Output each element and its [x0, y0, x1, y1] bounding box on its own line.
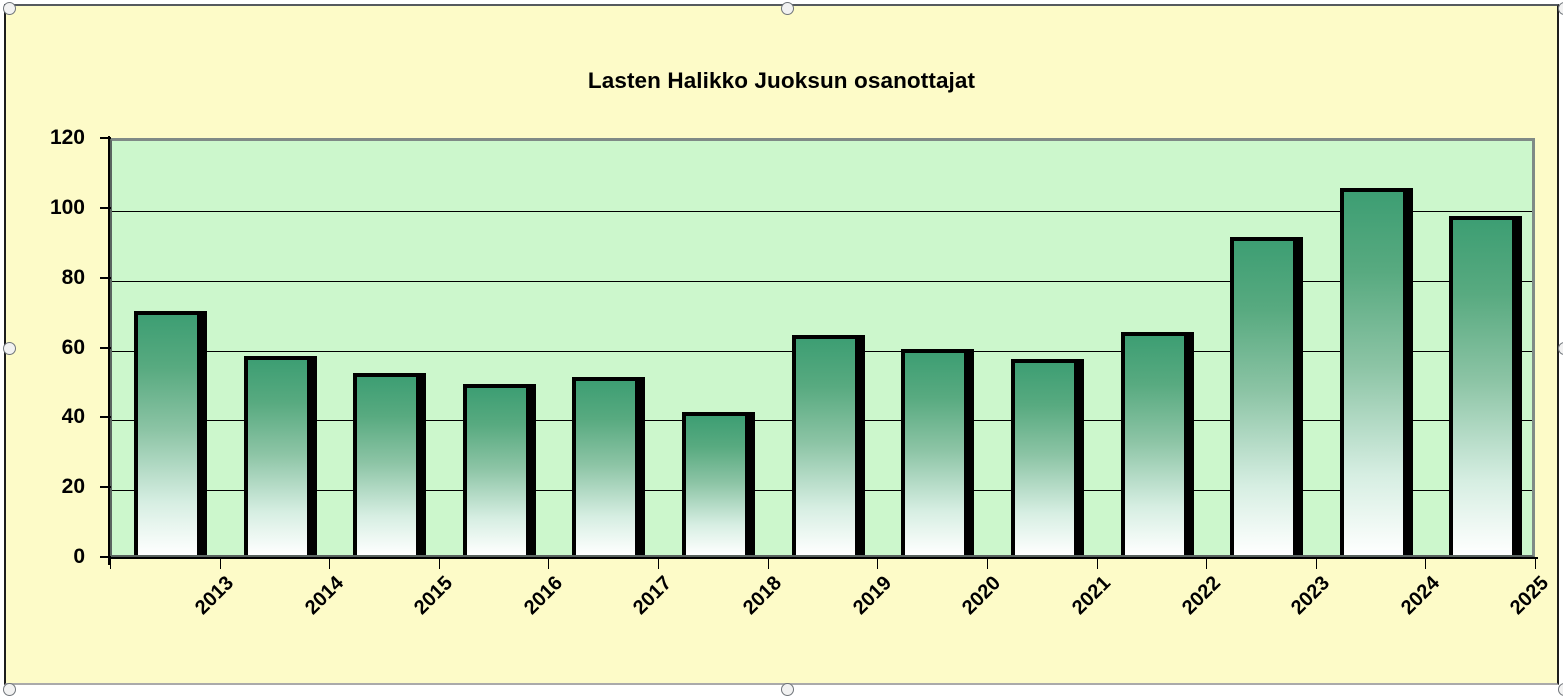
bar[interactable]: [572, 377, 639, 555]
bar[interactable]: [792, 335, 859, 555]
selection-handle-bottom-left[interactable]: [3, 683, 16, 696]
value-axis-tick: [100, 416, 111, 418]
chart-title[interactable]: Lasten Halikko Juoksun osanottajat: [6, 68, 1557, 94]
category-axis-tick: [768, 557, 769, 569]
category-axis-tick: [1535, 557, 1536, 569]
bar-slot: [331, 141, 441, 555]
category-axis-tick: [987, 557, 988, 569]
category-axis-tick-label: 2020: [958, 572, 1006, 620]
category-axis-tick-label: 2022: [1178, 572, 1226, 620]
bar-slot: [441, 141, 551, 555]
value-axis-tick: [100, 486, 111, 488]
category-axis-tick: [1206, 557, 1207, 569]
bar-slot: [112, 141, 222, 555]
bar-slot: [660, 141, 770, 555]
selection-handle-middle-right[interactable]: [1558, 342, 1563, 355]
bar-slot: [222, 141, 332, 555]
category-axis-tick: [439, 557, 440, 569]
category-axis-tick: [220, 557, 221, 569]
selection-handle-bottom-center[interactable]: [781, 683, 794, 696]
bar-slot: [1427, 141, 1537, 555]
bar[interactable]: [463, 384, 530, 555]
bar-slot: [770, 141, 880, 555]
category-axis-tick: [658, 557, 659, 569]
bar[interactable]: [901, 349, 968, 555]
category-axis-tick-label: 2017: [629, 572, 677, 620]
value-axis-tick: [100, 347, 111, 349]
category-axis-tick-label: 2019: [849, 572, 897, 620]
bar[interactable]: [1449, 216, 1516, 555]
bar-slot: [550, 141, 660, 555]
category-axis-tick-label: 2023: [1287, 572, 1335, 620]
category-axis-tick-label: 2016: [520, 572, 568, 620]
value-axis-tick-label: 120: [0, 127, 85, 148]
bar[interactable]: [1230, 237, 1297, 555]
plot-inner: [112, 141, 1532, 555]
value-axis-tick-label: 100: [0, 197, 85, 218]
value-axis-tick-label: 20: [0, 476, 85, 497]
value-axis-tick-label: 80: [0, 267, 85, 288]
bar-slot: [989, 141, 1099, 555]
bar[interactable]: [1340, 188, 1407, 555]
bar[interactable]: [134, 311, 201, 555]
selection-handle-bottom-right[interactable]: [1558, 683, 1563, 696]
bar[interactable]: [682, 412, 749, 555]
category-axis-tick: [110, 557, 111, 569]
category-axis-tick: [329, 557, 330, 569]
bar-slot: [1208, 141, 1318, 555]
category-axis-tick-label: 2018: [739, 572, 787, 620]
bar[interactable]: [244, 356, 311, 555]
category-axis-tick-label: 2025: [1506, 572, 1554, 620]
category-axis-tick-label: 2014: [301, 572, 349, 620]
category-axis-line[interactable]: [108, 557, 1538, 559]
category-axis-tick: [1316, 557, 1317, 569]
value-axis-tick: [100, 207, 111, 209]
category-axis-tick: [1425, 557, 1426, 569]
category-axis-tick-label: 2015: [410, 572, 458, 620]
value-axis-line[interactable]: [108, 136, 110, 565]
category-axis-tick-label: 2021: [1068, 572, 1116, 620]
category-axis-tick: [548, 557, 549, 569]
category-axis-tick-label: 2024: [1397, 572, 1445, 620]
bar[interactable]: [1011, 359, 1078, 555]
bar-slot: [1099, 141, 1209, 555]
category-axis-tick: [1097, 557, 1098, 569]
plot-area[interactable]: [110, 138, 1535, 557]
value-axis-tick-label: 40: [0, 406, 85, 427]
value-axis-tick: [100, 137, 111, 139]
chart-object[interactable]: Lasten Halikko Juoksun osanottajat 12010…: [4, 4, 1559, 685]
selection-handle-middle-left[interactable]: [3, 342, 16, 355]
bar-slot: [879, 141, 989, 555]
value-axis-tick-label: 0: [0, 546, 85, 567]
bar[interactable]: [353, 373, 420, 555]
category-axis-tick-label: 2013: [191, 572, 239, 620]
selection-handle-top-right[interactable]: [1558, 2, 1563, 15]
bar-slot: [1318, 141, 1428, 555]
value-axis-tick: [100, 277, 111, 279]
bar[interactable]: [1121, 332, 1188, 555]
selection-handle-top-center[interactable]: [781, 2, 794, 15]
category-axis-tick: [877, 557, 878, 569]
selection-handle-top-left[interactable]: [3, 2, 16, 15]
